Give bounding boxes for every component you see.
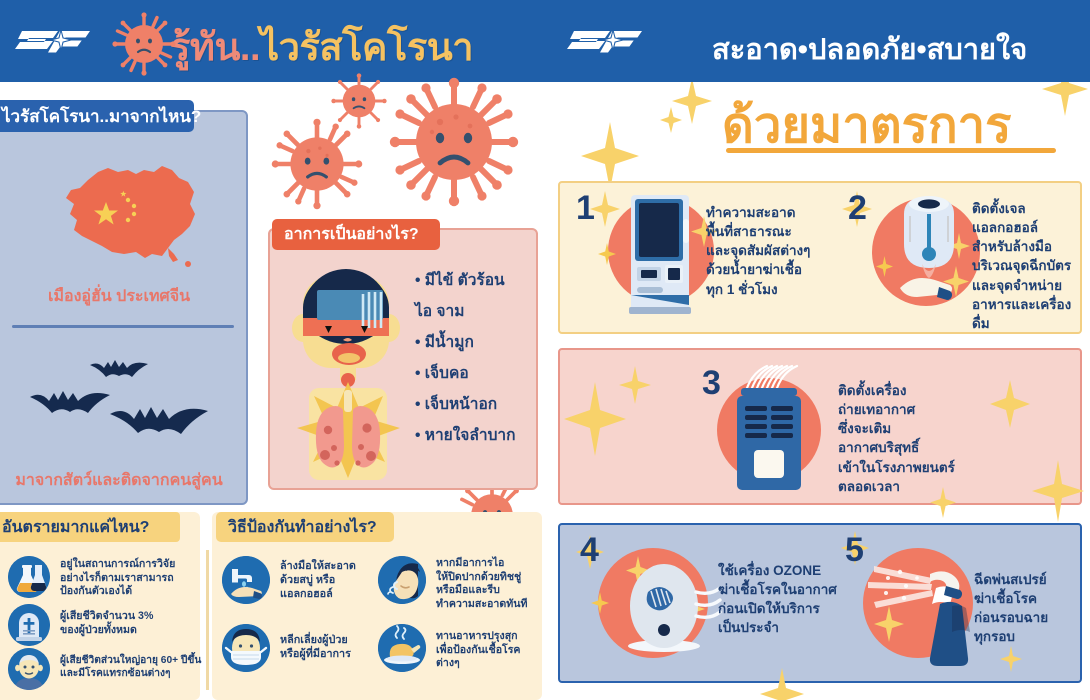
danger-item: ผู้เสียชีวิตส่วนใหญ่อายุ 60+ ปีขึ้น และม… [8,648,213,690]
prevention-item-text: ทานอาหารปรุงสุก เพื่อป้องกันเชื้อโรค ต่า… [436,624,521,671]
handwash-faucet-icon [222,556,270,604]
origin-panel-tab: ไวรัสโคโรนา..มาจากไหน? [0,100,194,132]
danger-item-text: อยู่ในสถานการณ์การวิจัย อย่างไรก็ตามเราส… [60,556,175,599]
ozone-machine-icon [622,556,732,656]
symptom-item: ไอ จาม [415,296,543,327]
origin-bats-caption: มาจากสัตว์และติดจากคนสู่คน [0,468,248,493]
prevention-item: ล้างมือให้สะอาด ด้วยสบู่ หรือ แอลกอฮอล์ [222,556,382,604]
infographic-root: รู้ทัน..ไวรัสโคโรนา สะอาด•ปลอดภัย•สบายใจ… [0,0,1090,700]
measure-step-number: 4 [580,531,599,570]
header-title-left-main: ไวรัสโคโรนา [260,27,473,69]
prevention-item: หากมีอาการไอ ให้ปิดปากด้วยทิชชู่ หรือมือ… [378,556,543,611]
bat [88,355,150,387]
sad-virus [390,78,518,206]
measure-step-number: 5 [845,531,864,570]
measure-step-text: ฉีดพ่นสเปรย์ ฆ่าเชื้อโรค ก่อนรอบฉาย ทุกร… [974,570,1084,647]
sick-person-with-lungs [287,258,405,486]
measure-step-number: 1 [576,189,595,228]
symptom-item: • เจ็บคอ [415,358,543,389]
sparkle [660,107,682,133]
header-title-left: รู้ทัน..ไวรัสโคโรนา [170,16,473,77]
sparkle [672,78,712,124]
measure-step-text: ติดตั้งเจล แอลกอฮอล์ สำหรับล้างมือ บริเว… [972,199,1084,333]
danger-item-text: ผู้เสียชีวิตส่วนใหญ่อายุ 60+ ปีขึ้น และม… [60,648,201,680]
measure-step-text: ติดตั้งเครื่อง ถ่ายเทอากาศ ซึ่งจะเติม อา… [838,381,968,496]
cooked-food-icon [378,624,426,672]
origin-map-caption: เมืองอู่ฮั่น ประเทศจีน [0,284,248,309]
symptom-item: • เจ็บหน้าอก [415,389,543,420]
prevention-item: หลีกเลี่ยงผู้ป่วย หรือผู้ที่มีอาการ [222,624,382,672]
symptoms-list: • มีไข้ ตัวร้อน ไอ จาม • มีน้ำมูก • เจ็บ… [415,265,543,451]
ticket-kiosk-icon [625,193,697,315]
sparkle [581,122,639,190]
bat [108,400,210,450]
danger-panel-tab: อันตรายมากแค่ไหน? [0,512,180,542]
danger-item: อยู่ในสถานการณ์การวิจัย อย่างไรก็ตามเราส… [8,556,208,599]
prevention-item-text: หากมีอาการไอ ให้ปิดปากด้วยทิชชู่ หรือมือ… [436,556,527,611]
tombstone-icon [8,604,50,646]
symptoms-tab-label: อาการเป็นอย่างไร? [284,222,419,247]
elderly-person-icon [8,648,50,690]
measure-step-text: ทำความสะอาด พื้นที่สาธารณะ และจุดสัมผัสต… [706,203,826,299]
symptom-item: • หายใจลำบาก [415,420,543,451]
measure-step-number: 2 [848,189,867,228]
cough-cover-icon [378,556,426,604]
hand-sanitizer-dispenser-icon [886,192,972,312]
sad-virus [271,118,363,210]
danger-tab-label: อันตรายมากแค่ไหน? [2,515,149,540]
spray-bottle-icon [860,548,980,668]
symptom-item: • มีน้ำมูก [415,327,543,358]
measure-step-text: ใช้เครื่อง OZONE ฆ่าเชื้อโรคในอากาศ ก่อน… [718,561,858,638]
header-subtitle-underline [726,148,1056,153]
header-title-right: สะอาด•ปลอดภัย•สบายใจ [712,26,1027,72]
prevention-item-text: หลีกเลี่ยงผู้ป่วย หรือผู้ที่มีอาการ [280,624,351,662]
sf-logo-left [16,22,92,60]
prevention-panel-divider [206,550,209,690]
china-map [44,148,212,278]
header-title-left-prefix: รู้ทัน.. [170,27,260,69]
air-ventilator-icon [729,362,809,494]
lab-flask-icon [8,556,50,598]
danger-item: ผู้เสียชีวิตจำนวน 3% ของผู้ป่วยทั้งหมด [8,604,208,646]
prevention-panel-tab: วิธีป้องกันทำอย่างไร? [216,512,394,542]
prevention-tab-label: วิธีป้องกันทำอย่างไร? [228,515,377,540]
symptom-item: • มีไข้ ตัวร้อน [415,265,543,296]
symptoms-panel-tab: อาการเป็นอย่างไร? [272,219,440,250]
origin-divider [12,325,234,328]
danger-item-text: ผู้เสียชีวิตจำนวน 3% ของผู้ป่วยทั้งหมด [60,604,153,637]
origin-tab-label: ไวรัสโคโรนา..มาจากไหน? [2,103,201,130]
face-mask-icon [222,624,270,672]
prevention-item: ทานอาหารปรุงสุก เพื่อป้องกันเชื้อโรค ต่า… [378,624,543,672]
bat [28,385,112,427]
prevention-item-text: ล้างมือให้สะอาด ด้วยสบู่ หรือ แอลกอฮอล์ [280,556,356,601]
sf-logo-right [568,22,644,60]
measure-step-number: 3 [702,364,721,403]
